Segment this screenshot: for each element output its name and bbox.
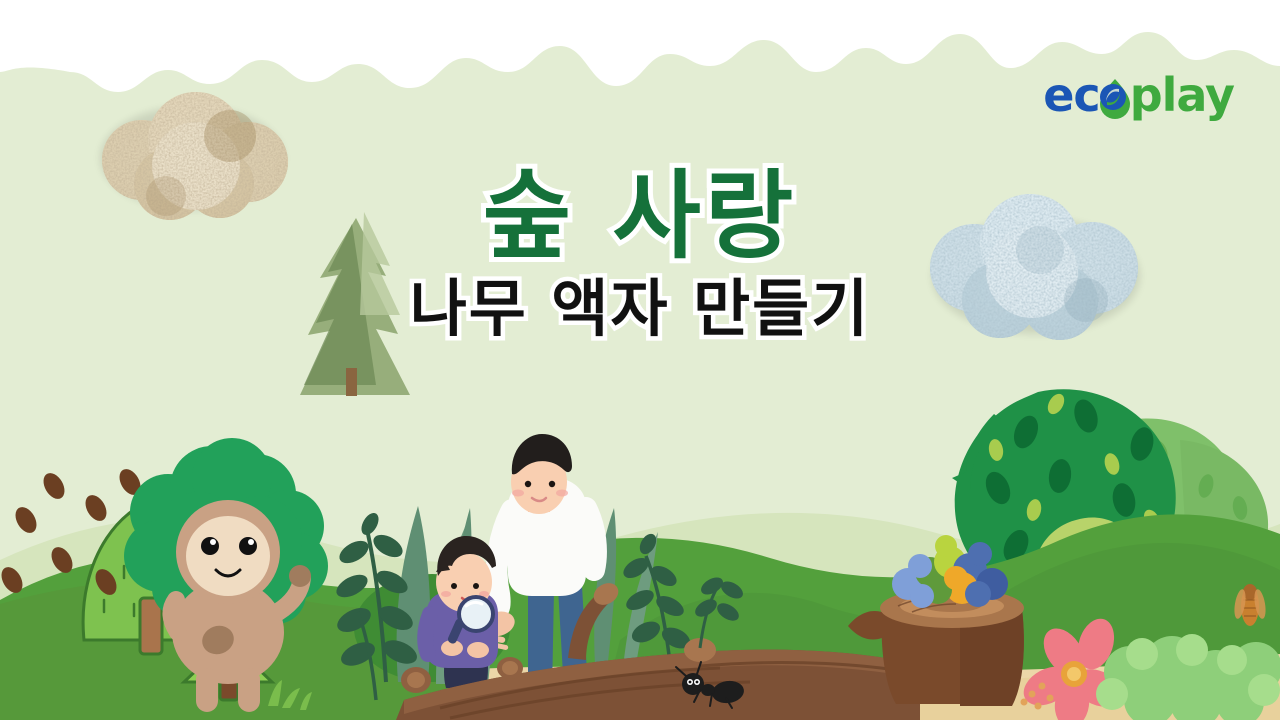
leaf-drop-icon	[1098, 77, 1132, 117]
brand-eco-text: ec	[1043, 68, 1099, 122]
poster-canvas: ec play 숲 사랑 나무 액자 만들기	[0, 0, 1280, 720]
brand-logo[interactable]: ec play	[1043, 72, 1234, 118]
brand-play-text: play	[1130, 68, 1234, 122]
